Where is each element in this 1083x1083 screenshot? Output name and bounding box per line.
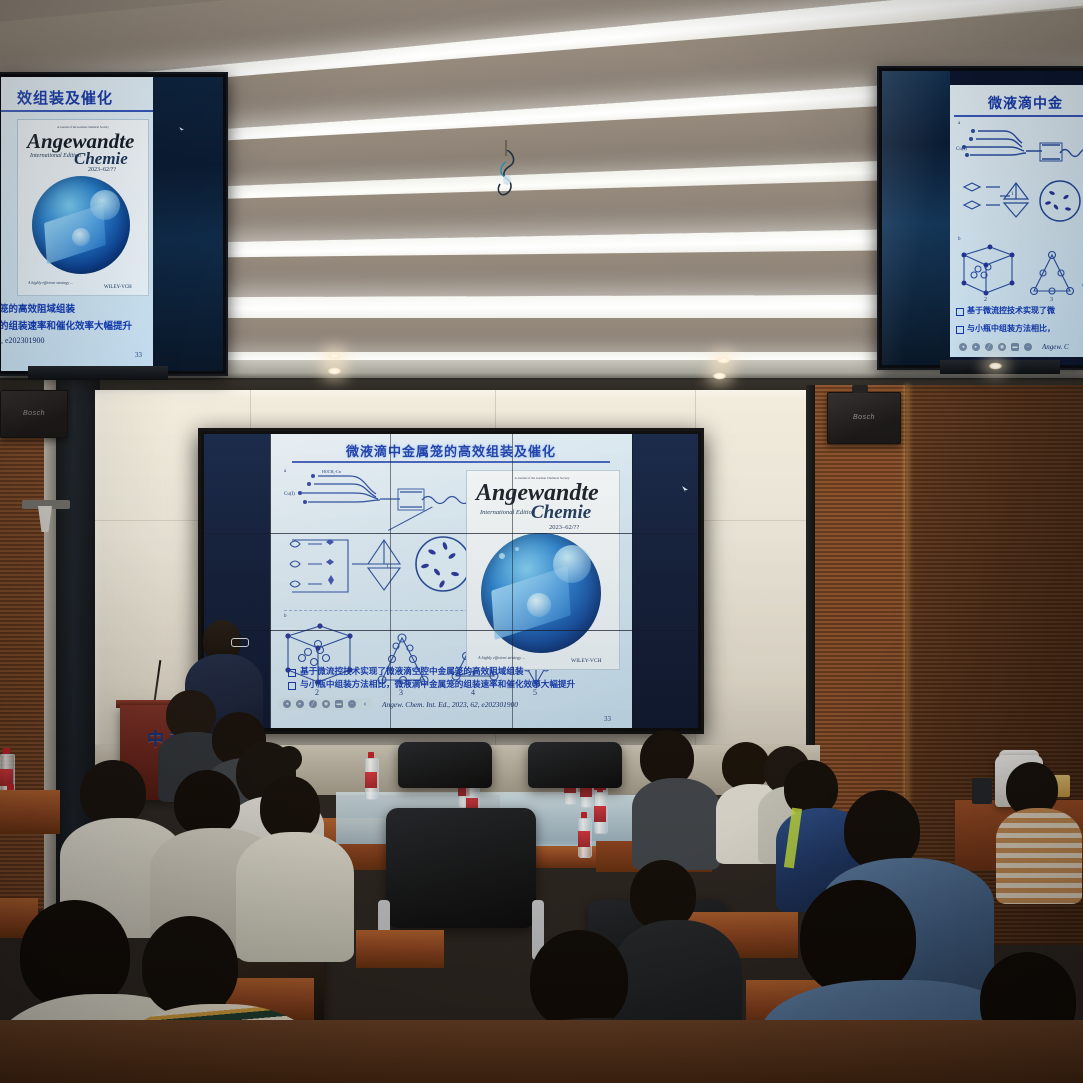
slide-title-underline — [292, 461, 611, 463]
water-bottle — [594, 786, 606, 834]
bullet-checkbox-icon — [288, 669, 296, 677]
recessed-downlight — [712, 372, 727, 380]
right-overhead-tv[interactable]: 微液滴中金 a — [877, 66, 1083, 370]
pen-icon[interactable]: ╱ — [309, 700, 317, 708]
wall-speaker: Bosch — [0, 390, 68, 438]
presenter-view-icon[interactable]: ▬ — [335, 700, 343, 708]
right-tv-screen: 微液滴中金 a — [882, 71, 1083, 365]
cover-name-line2: Chemie — [531, 502, 591, 524]
audience-desk — [356, 930, 444, 968]
slide-title: 微液滴中金属笼的高效组装及催化 — [270, 441, 632, 460]
left-tv-screen: 效组装及催化 A Journal of the German Chemical … — [1, 77, 223, 371]
laser-pointer-icon[interactable]: ◉ — [322, 700, 330, 708]
video-wall-canvas: 微液滴中金属笼的高效组装及催化 a — [204, 434, 698, 728]
cover-issue: 2023–62/?? — [549, 524, 579, 531]
recessed-downlight — [327, 367, 342, 375]
prev-slide-icon[interactable]: ◂ — [283, 700, 291, 708]
cover-artwork-sphere — [481, 533, 601, 653]
desk-item-box — [972, 778, 992, 804]
lecture-hall-photo: Bosch Bosch 效组装及催化 A Journal of the Germ… — [0, 0, 1083, 1083]
side-desk — [0, 790, 60, 834]
hanging-cable-coil — [492, 150, 522, 194]
left-tv-mount — [28, 366, 168, 380]
svg-text:Cu(I): Cu(I) — [284, 492, 295, 497]
presentation-slide: 微液滴中金属笼的高效组装及催化 a — [270, 434, 632, 728]
slide-page-number: 33 — [604, 715, 611, 723]
collapse-icon[interactable]: ‹ — [361, 700, 369, 708]
speaker-bracket — [852, 385, 868, 393]
more-options-icon[interactable]: − — [348, 700, 356, 708]
slide-bullet-2: 与小瓶中组装方法相比，微液滴中金属笼的组装速率和催化效率大幅提升 — [288, 679, 621, 692]
journal-cover: A Journal of the German Chemical Society… — [466, 470, 620, 670]
office-chair — [398, 742, 492, 788]
left-overhead-tv[interactable]: 效组装及催化 A Journal of the German Chemical … — [0, 72, 228, 376]
video-wall-right-tile — [632, 434, 698, 728]
slide-bullets: 基于微流控技术实现了微液滴空腔中金属笼的高效阻域组装 与小瓶中组装方法相比，微液… — [288, 666, 621, 693]
svg-text:HOCH₂-Cn: HOCH₂-Cn — [322, 469, 341, 474]
next-slide-icon[interactable]: ▸ — [296, 700, 304, 708]
office-chair — [386, 808, 536, 928]
cover-publisher: WILEY-VCH — [571, 658, 602, 664]
cover-edition: International Edition — [480, 509, 535, 516]
water-bottle — [365, 752, 377, 800]
slide-bullet-1-text: 基于微流控技术实现了微液滴空腔中金属笼的高效阻域组装 — [300, 666, 523, 679]
recessed-downlight — [988, 362, 1003, 370]
wall-speaker: Bosch — [827, 392, 901, 444]
cover-tagline: A highly efficient strategy ... — [478, 655, 525, 660]
floor — [0, 1020, 1083, 1083]
office-chair — [528, 742, 622, 788]
microfluidics-schematic: HOCH₂-Cn Cu(I) — [280, 468, 490, 530]
water-bottle — [578, 812, 590, 858]
ppt-toolbar[interactable]: ◂ ▸ ╱ ◉ ▬ − ‹ — [278, 698, 374, 710]
recessed-downlight — [716, 356, 731, 364]
presenter-glasses-icon — [231, 638, 249, 647]
slide-bullet-2-text: 与小瓶中组装方法相比，微液滴中金属笼的组装速率和催化效率大幅提升 — [300, 679, 575, 692]
slide-bullet-1: 基于微流控技术实现了微液滴空腔中金属笼的高效阻域组装 — [288, 666, 621, 679]
slide-citation: Angew. Chem. Int. Ed., 2023, 62, e202301… — [382, 700, 518, 709]
bullet-checkbox-icon — [288, 682, 296, 690]
main-video-wall[interactable]: 微液滴中金属笼的高效组装及催化 a — [198, 428, 704, 734]
svg-text:1: 1 — [386, 564, 389, 570]
recessed-downlight — [327, 352, 342, 360]
